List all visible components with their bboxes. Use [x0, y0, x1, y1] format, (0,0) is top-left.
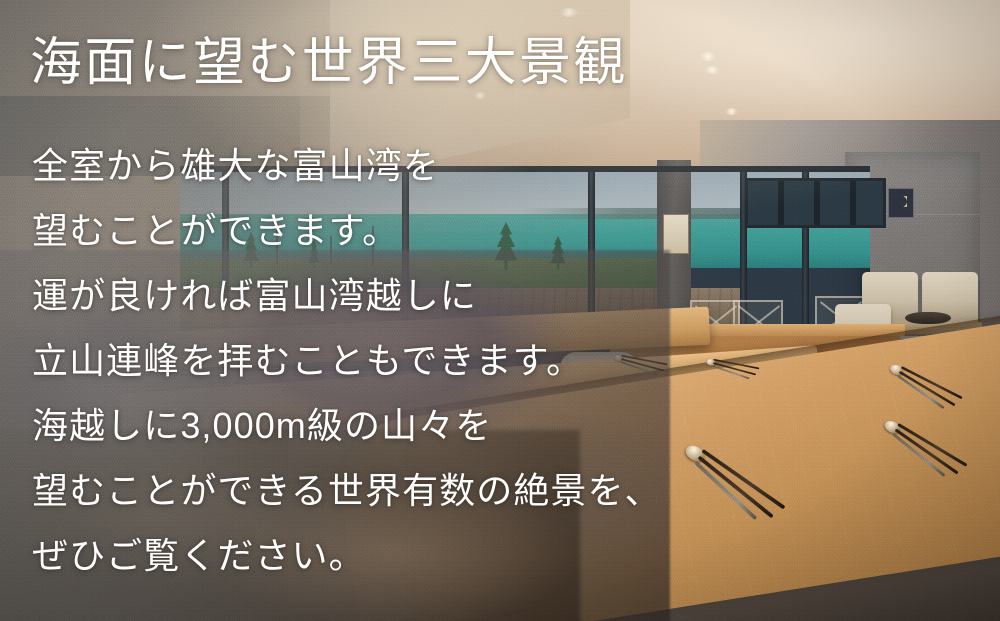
description-line: 全室から雄大な富山湾を	[32, 133, 662, 198]
description-line: 運が良ければ富山湾越しに	[32, 263, 662, 328]
description-line: 海越しに3,000m級の山々を	[32, 393, 662, 458]
description-line: 望むことができる世界有数の絶景を、	[32, 458, 662, 523]
page-title: 海面に望む世界三大景観	[30, 34, 628, 94]
description-text: 全室から雄大な富山湾を 望むことができます。 運が良ければ富山湾越しに 立山連峰…	[32, 133, 662, 588]
text-block: 海面に望む世界三大景観 全室から雄大な富山湾を 望むことができます。 運が良けれ…	[0, 0, 1000, 621]
scenic-promo-banner: 海面に望む世界三大景観 全室から雄大な富山湾を 望むことができます。 運が良けれ…	[0, 0, 1000, 621]
description-line: 望むことができます。	[32, 198, 662, 263]
description-line: ぜひご覧ください。	[32, 523, 662, 588]
description-line: 立山連峰を拝むこともできます。	[32, 328, 662, 393]
